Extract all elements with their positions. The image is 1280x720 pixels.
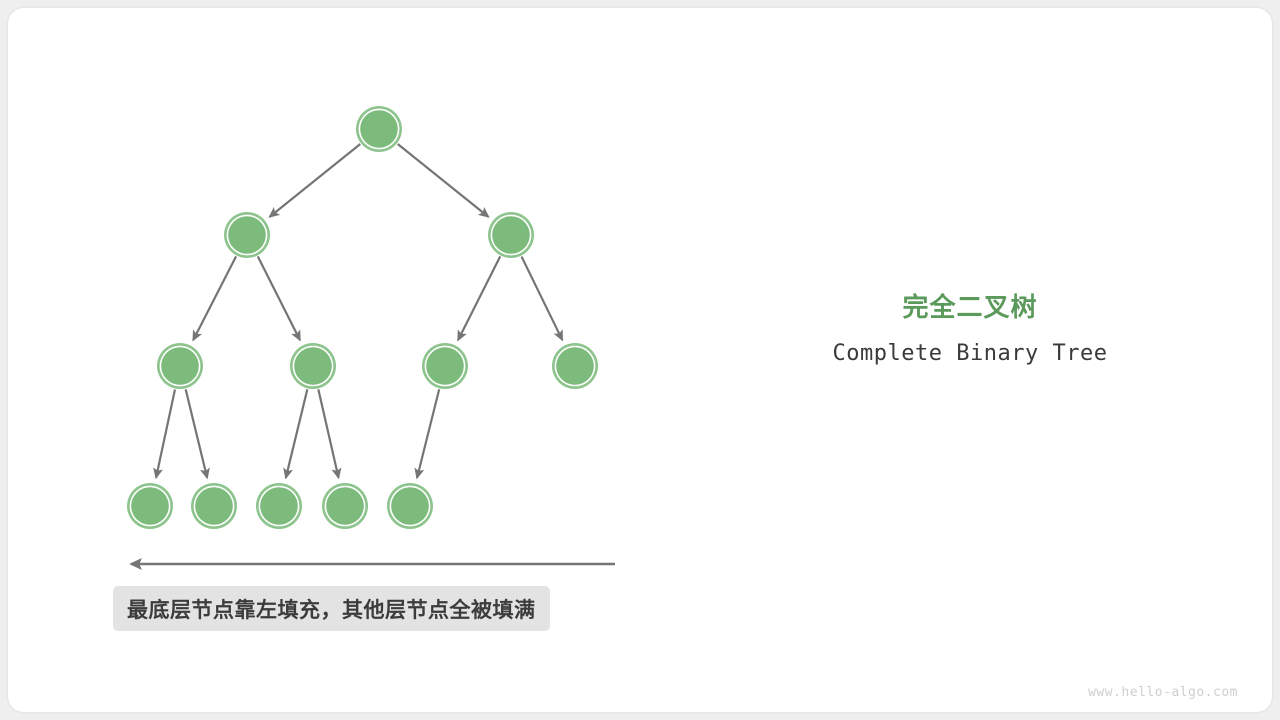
tree-node bbox=[552, 343, 598, 389]
tree-node bbox=[224, 212, 270, 258]
tree-edge bbox=[458, 256, 500, 340]
tree-edge bbox=[417, 389, 439, 478]
tree-node-body bbox=[391, 487, 429, 525]
tree-nodes bbox=[127, 106, 598, 529]
tree-node-body bbox=[426, 347, 464, 385]
tree-node-body bbox=[195, 487, 233, 525]
tree-node bbox=[322, 483, 368, 529]
tree-node bbox=[256, 483, 302, 529]
page-subtitle: Complete Binary Tree bbox=[760, 340, 1180, 368]
tree-edges bbox=[156, 144, 562, 478]
tree-node-body bbox=[492, 216, 530, 254]
tree-node bbox=[356, 106, 402, 152]
tree-edge bbox=[398, 144, 489, 217]
tree-edge bbox=[286, 389, 308, 478]
page-title: 完全二叉树 bbox=[760, 290, 1180, 324]
diagram-title-block: 完全二叉树 Complete Binary Tree bbox=[760, 290, 1180, 368]
tree-node bbox=[488, 212, 534, 258]
tree-node bbox=[157, 343, 203, 389]
tree-node-body bbox=[360, 110, 398, 148]
caption-badge: 最底层节点靠左填充，其他层节点全被填满 bbox=[113, 586, 550, 631]
tree-edge bbox=[270, 144, 361, 217]
tree-node-body bbox=[161, 347, 199, 385]
caption-text: 最底层节点靠左填充，其他层节点全被填满 bbox=[127, 594, 536, 624]
tree-node-body bbox=[131, 487, 169, 525]
watermark: www.hello-algo.com bbox=[1088, 685, 1238, 700]
tree-edge bbox=[193, 256, 236, 340]
tree-node bbox=[290, 343, 336, 389]
tree-node-body bbox=[228, 216, 266, 254]
tree-node bbox=[127, 483, 173, 529]
tree-edge bbox=[156, 389, 175, 477]
tree-edge bbox=[186, 389, 208, 478]
tree-edge bbox=[258, 256, 300, 340]
tree-edge bbox=[522, 257, 563, 340]
screenshot-root: 完全二叉树 Complete Binary Tree 最底层节点靠左填充，其他层… bbox=[0, 0, 1280, 720]
tree-edge bbox=[318, 389, 338, 477]
tree-node bbox=[191, 483, 237, 529]
tree-node-body bbox=[294, 347, 332, 385]
tree-node bbox=[422, 343, 468, 389]
tree-node-body bbox=[556, 347, 594, 385]
tree-node-body bbox=[260, 487, 298, 525]
tree-node bbox=[387, 483, 433, 529]
tree-node-body bbox=[326, 487, 364, 525]
